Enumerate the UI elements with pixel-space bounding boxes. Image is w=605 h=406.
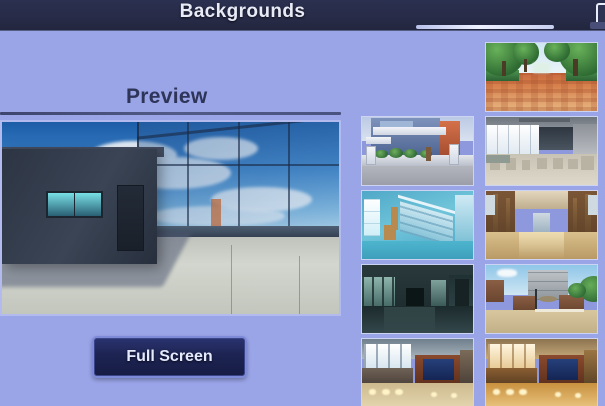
preview-scene-rooftop-glass-terrace: [2, 122, 339, 314]
background-thumbnail-grid: [361, 42, 601, 406]
thumbnail-bg-street-shops[interactable]: [361, 116, 474, 186]
title-underline: [416, 25, 554, 29]
thumbnail-bg-wood-corridor[interactable]: [485, 190, 598, 260]
thumbnail-bg-blue-stairwell[interactable]: [361, 190, 474, 260]
thumbnail-bg-auditorium-cool[interactable]: [361, 338, 474, 406]
thumbnail-bg-cafeteria[interactable]: [485, 116, 598, 186]
thumbnail-bg-school-gate[interactable]: [485, 264, 598, 334]
top-header-bar: Backgrounds: [0, 0, 605, 31]
right-edge-panel-shadow: [590, 22, 605, 29]
preview-label: Preview: [126, 85, 208, 109]
preview-image[interactable]: [0, 120, 341, 316]
full-screen-button[interactable]: Full Screen: [92, 336, 247, 378]
page-title: Backgrounds: [0, 1, 605, 23]
thumbnail-bg-tree-path[interactable]: [485, 42, 598, 112]
thumbnail-bg-dark-corridor[interactable]: [361, 264, 474, 334]
thumbnail-bg-auditorium-warm[interactable]: [485, 338, 598, 406]
preview-divider: [0, 112, 341, 115]
